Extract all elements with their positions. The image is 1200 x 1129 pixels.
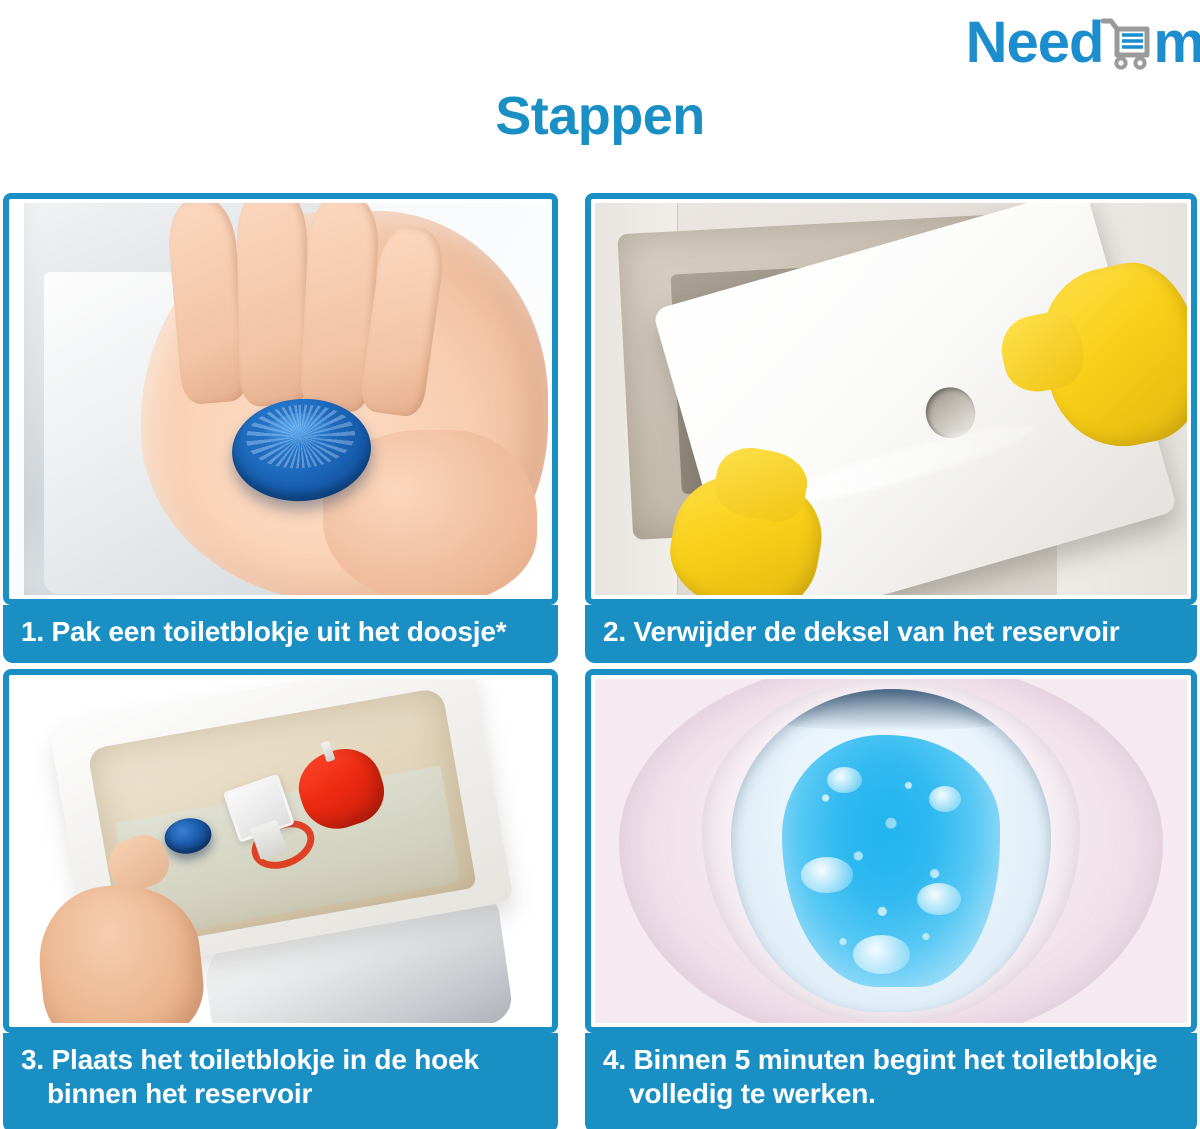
step-3-caption: 3. Plaats het toiletblokje in de hoek bi… [3, 1033, 558, 1129]
step-4-photo [595, 679, 1187, 1023]
step-1-photo [13, 203, 548, 595]
step-3-caption-line1: 3. Plaats het toiletblokje in de hoek [21, 1044, 479, 1075]
step-card-1: 1. Pak een toiletblokje uit het doosje* [3, 193, 558, 663]
finger-shape [236, 203, 309, 407]
step-card-3: 3. Plaats het toiletblokje in de hoek bi… [3, 669, 558, 1129]
page-title: Stappen [0, 88, 1200, 145]
foam-patch [827, 767, 862, 793]
step-1-caption-line1: 1. Pak een toiletblokje uit het doosje* [21, 616, 506, 647]
step-2-caption-line1: 2. Verwijder de deksel van het reservoir [603, 616, 1120, 647]
toilet-bowl-shape [731, 689, 1051, 1012]
foam-patch [853, 935, 911, 974]
infographic-page: Need m Stappen [0, 0, 1200, 1129]
step-3-photo [13, 679, 548, 1023]
step-1-caption: 1. Pak een toiletblokje uit het doosje* [3, 605, 558, 663]
step-card-4: 4. Binnen 5 minuten begint het toiletblo… [585, 669, 1197, 1129]
brand-name-last: m [1153, 14, 1200, 72]
step-2-photo [595, 203, 1187, 595]
step-4-photo-frame [585, 669, 1197, 1033]
step-2-caption: 2. Verwijder de deksel van het reservoir [585, 605, 1197, 663]
brand-name-first: Need [966, 14, 1104, 72]
steps-grid: 1. Pak een toiletblokje uit het doosje* [3, 193, 1197, 1127]
step-card-2: 2. Verwijder de deksel van het reservoir [585, 193, 1197, 663]
foam-patch [801, 857, 852, 893]
lid-highlight [777, 413, 1036, 514]
step-2-photo-frame [585, 193, 1197, 605]
brand-logo: Need m [966, 8, 1200, 78]
step-3-photo-frame [3, 669, 558, 1033]
header: Need m Stappen [0, 0, 1200, 190]
step-3-caption-line2: binnen het reservoir [21, 1077, 552, 1111]
step-4-caption: 4. Binnen 5 minuten begint het toiletblo… [585, 1033, 1197, 1129]
step-4-caption-line2: volledig te werken. [603, 1077, 1191, 1111]
step-4-caption-line1: 4. Binnen 5 minuten begint het toiletblo… [603, 1044, 1158, 1075]
step-1-photo-frame [3, 193, 558, 605]
shopping-cart-icon [1097, 13, 1157, 73]
